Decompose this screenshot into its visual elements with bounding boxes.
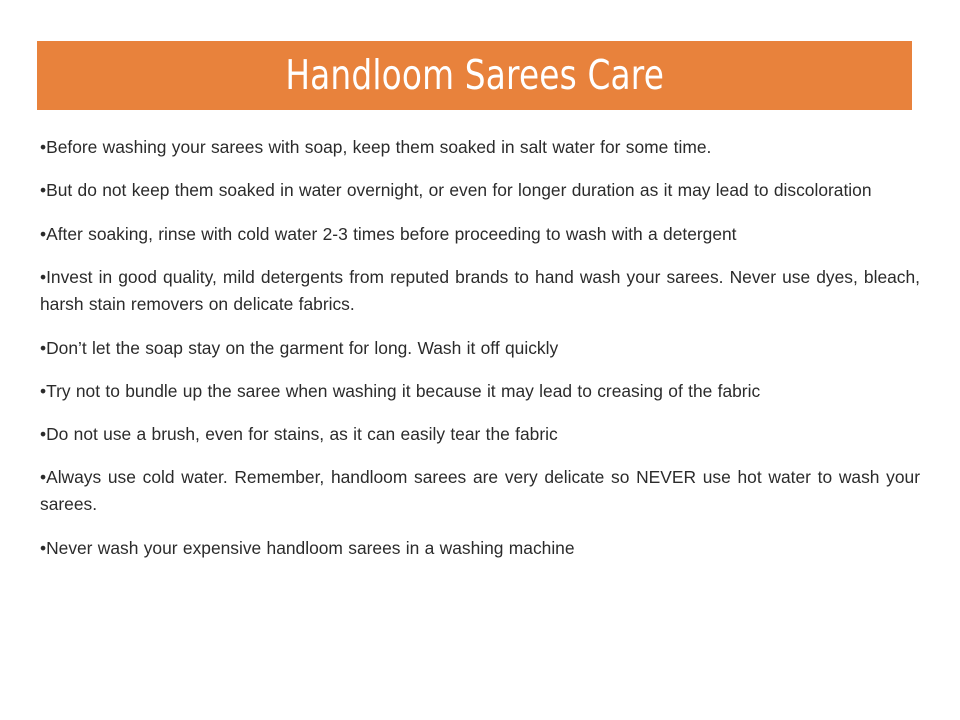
list-item-always-cold-water: •Always use cold water. Remember, handlo… <box>40 464 920 518</box>
bullet-list: •Before washing your sarees with soap, k… <box>40 134 920 578</box>
list-item-no-washing-machine: •Never wash your expensive handloom sare… <box>40 535 920 562</box>
list-item-do-not-bundle: •Try not to bundle up the saree when was… <box>40 378 920 405</box>
title-banner: Handloom Sarees Care <box>37 41 912 110</box>
list-item-no-overnight-soak: •But do not keep them soaked in water ov… <box>40 177 920 204</box>
list-item-no-brush: •Do not use a brush, even for stains, as… <box>40 421 920 448</box>
list-item-rinse-cold-water: •After soaking, rinse with cold water 2-… <box>40 221 920 248</box>
list-item-soak-salt-water: •Before washing your sarees with soap, k… <box>40 134 920 161</box>
page-title: Handloom Sarees Care <box>285 55 664 96</box>
list-item-mild-detergents: •Invest in good quality, mild detergents… <box>40 264 920 318</box>
slide-canvas: Handloom Sarees Care •Before washing you… <box>0 0 960 720</box>
list-item-wash-soap-off-quickly: •Don’t let the soap stay on the garment … <box>40 335 920 362</box>
